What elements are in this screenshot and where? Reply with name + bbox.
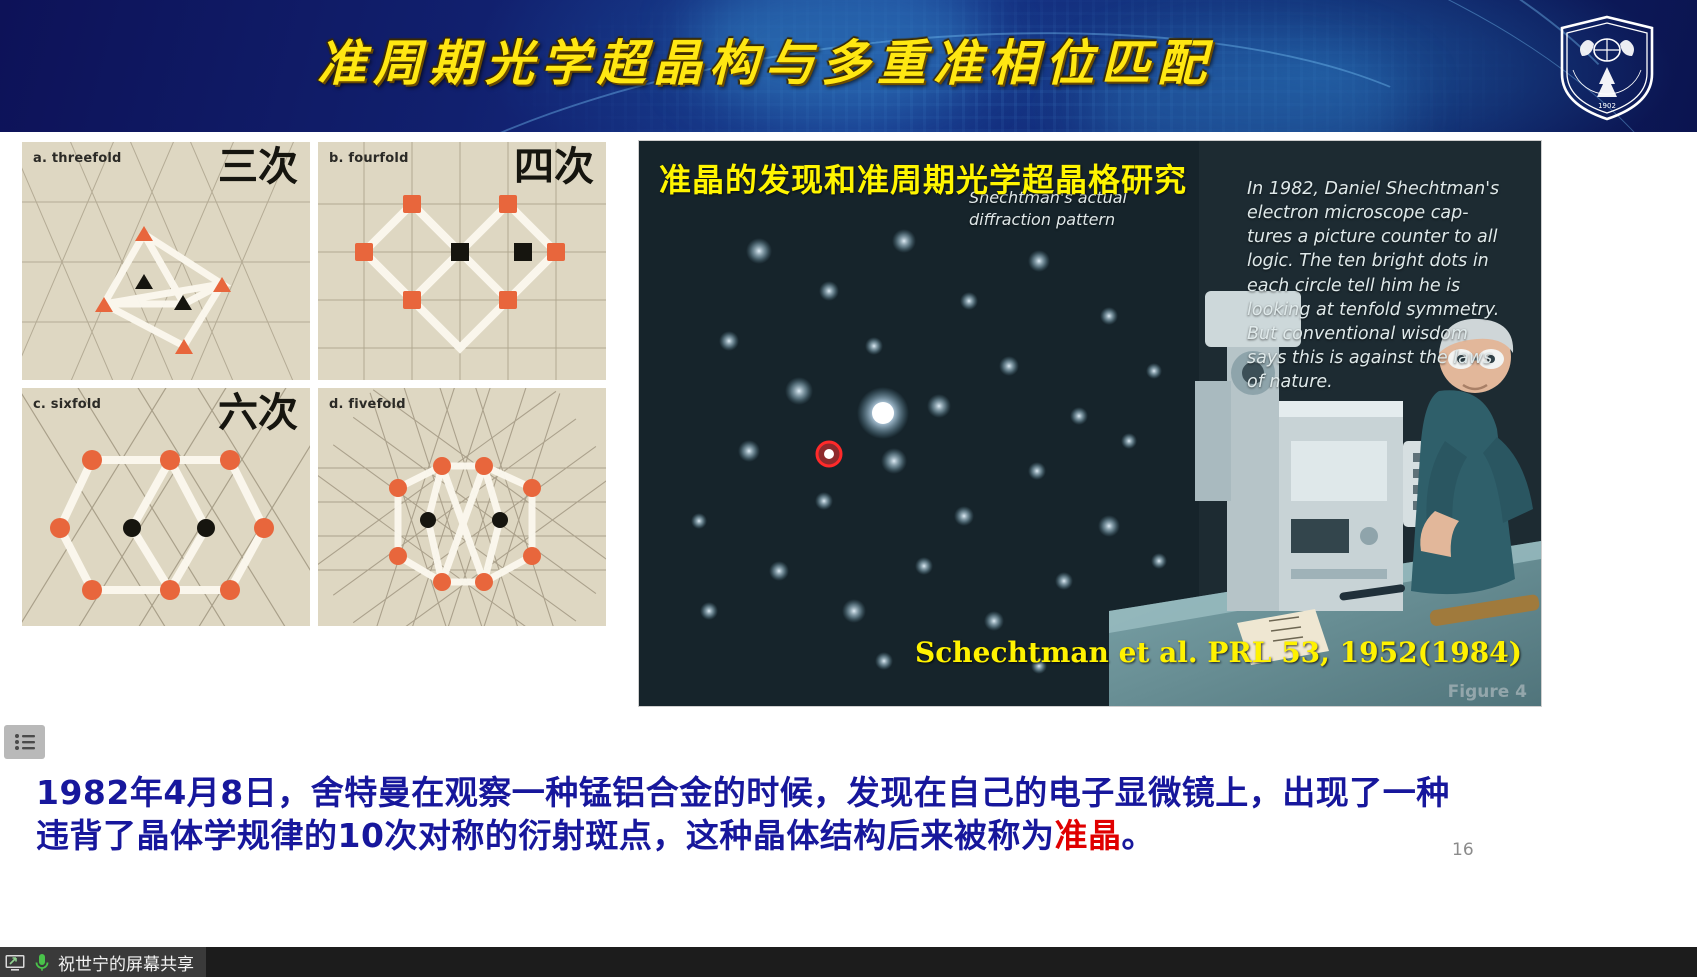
list-view-button[interactable] xyxy=(4,725,45,759)
caption-line-2-text: 违背了晶体学规律的10次对称的衍射斑点，这种晶体结构后来被称为 xyxy=(36,816,1054,855)
taskbar: 祝世宁的屏幕共享 xyxy=(0,947,1697,977)
panel-sixfold-cn-label: 六次 xyxy=(218,392,298,434)
story-line: says this is against the laws xyxy=(1247,346,1537,370)
story-line: electron microscope cap- xyxy=(1247,201,1537,225)
screen-share-label: 祝世宁的屏幕共享 xyxy=(58,950,194,975)
story-line: In 1982, Daniel Shechtman's xyxy=(1247,177,1537,201)
panel-sixfold-caption: c. sixfold xyxy=(33,397,101,412)
slide-title: 准周期光学超晶构与多重准相位匹配 xyxy=(0,24,1530,95)
panel-fivefold: d. fivefold xyxy=(318,388,606,626)
screen: 准周期光学超晶构与多重准相位匹配 1902 xyxy=(0,0,1697,977)
story-line: logic. The ten bright dots in xyxy=(1247,249,1537,273)
screen-share-indicator[interactable]: 祝世宁的屏幕共享 xyxy=(0,947,206,977)
panel-fivefold-caption: d. fivefold xyxy=(329,397,406,412)
caption-line-2: 违背了晶体学规律的10次对称的衍射斑点，这种晶体结构后来被称为准晶。 xyxy=(36,815,1656,858)
caption-highlight: 准晶 xyxy=(1054,816,1121,855)
quasicrystal-symmetry-figure: a. threefold 三次 xyxy=(22,142,606,628)
page-number: 16 xyxy=(1452,840,1474,860)
list-view-icon xyxy=(14,733,36,751)
story-line: each circle tell him he is xyxy=(1247,274,1537,298)
quasicrystal-discovery-heading: 准晶的发现和准周期光学超晶格研究 xyxy=(659,155,1187,201)
slide-body: a. threefold 三次 xyxy=(0,132,1697,977)
slide-header-banner: 准周期光学超晶构与多重准相位匹配 1902 xyxy=(0,0,1697,132)
panel-fourfold-caption: b. fourfold xyxy=(329,151,409,166)
story-line: tures a picture counter to all xyxy=(1247,225,1537,249)
story-line: looking at tenfold symmetry. xyxy=(1247,298,1537,322)
caption-line-2-end: 。 xyxy=(1121,816,1155,855)
panel-threefold-cn-label: 三次 xyxy=(218,146,298,188)
caption-line-1: 1982年4月8日，舍特曼在观察一种锰铝合金的时候，发现在自己的电子显微镜上，出… xyxy=(36,772,1656,815)
panel-fourfold: b. fourfold 四次 xyxy=(318,142,606,380)
svg-text:1902: 1902 xyxy=(1598,102,1616,110)
panel-threefold-caption: a. threefold xyxy=(33,151,122,166)
nanjing-university-crest-icon: 1902 xyxy=(1555,14,1659,122)
story-line: of nature. xyxy=(1247,370,1537,394)
story-line: But conventional wisdom xyxy=(1247,322,1537,346)
panel-sixfold: c. sixfold 六次 xyxy=(22,388,310,626)
screen-share-icon xyxy=(4,951,26,973)
panel-fourfold-cn-label: 四次 xyxy=(514,146,594,188)
paper-citation: Schechtman et al. PRL 53, 1952(1984) xyxy=(915,636,1522,669)
panel-threefold: a. threefold 三次 xyxy=(22,142,310,380)
slide-body-caption: 1982年4月8日，舍特曼在观察一种锰铝合金的时候，发现在自己的电子显微镜上，出… xyxy=(36,772,1656,858)
microphone-icon xyxy=(31,951,53,973)
shechtman-story-text: In 1982, Daniel Shechtman's electron mic… xyxy=(1247,177,1537,394)
shechtman-illustration-figure: 准晶的发现和准周期光学超晶格研究 Shechtman's actual diff… xyxy=(638,140,1542,707)
figure-label: Figure 4 xyxy=(1448,682,1527,702)
